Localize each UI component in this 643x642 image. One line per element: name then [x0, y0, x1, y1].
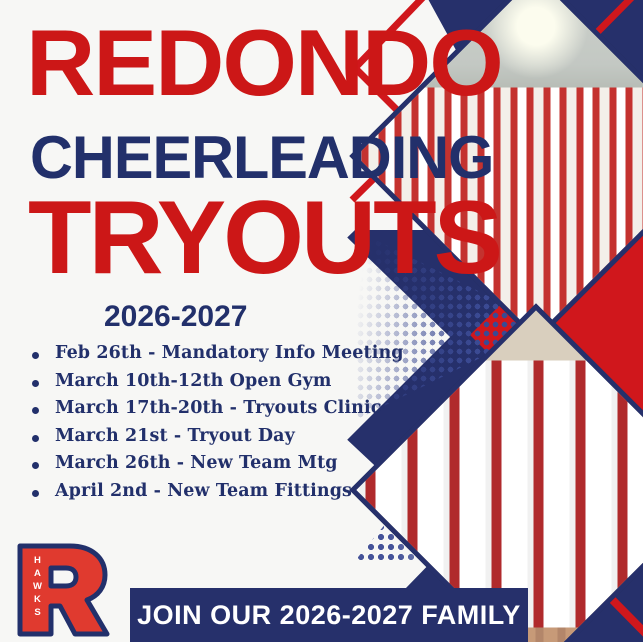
list-item: March 21st - Tryout Day	[30, 427, 404, 447]
list-item: April 2nd - New Team Fittings	[30, 482, 404, 502]
logo-letter: A	[34, 567, 41, 580]
headline-line-tryouts: TRYOUTS	[28, 186, 500, 290]
headline-line-redondo: REDONDO	[26, 16, 502, 110]
logo-letter: H	[34, 554, 41, 567]
logo-r-icon	[6, 540, 114, 640]
cheer-tryouts-poster: REDONDO CHEERLEADING TRYOUTS 2026-2027 F…	[0, 0, 643, 642]
list-item: March 10th-12th Open Gym	[30, 372, 404, 392]
redondo-hawks-logo: H A W K S	[6, 540, 114, 640]
season-years: 2026-2027	[104, 302, 247, 332]
logo-hawks-vertical-text: H A W K S	[33, 554, 42, 620]
headline-line-cheerleading: CHEERLEADING	[30, 128, 493, 188]
logo-letter: K	[34, 593, 41, 606]
logo-letter: W	[33, 580, 42, 593]
list-item: March 26th - New Team Mtg	[30, 454, 404, 474]
schedule-list: Feb 26th - Mandatory Info Meeting March …	[30, 344, 404, 510]
call-to-action-banner: JOIN OUR 2026-2027 FAMILY	[130, 588, 528, 642]
logo-letter: S	[34, 606, 40, 619]
list-item: March 17th-20th - Tryouts Clinic	[30, 399, 404, 419]
call-to-action-label: JOIN OUR 2026-2027 FAMILY	[137, 600, 521, 631]
list-item: Feb 26th - Mandatory Info Meeting	[30, 344, 404, 364]
